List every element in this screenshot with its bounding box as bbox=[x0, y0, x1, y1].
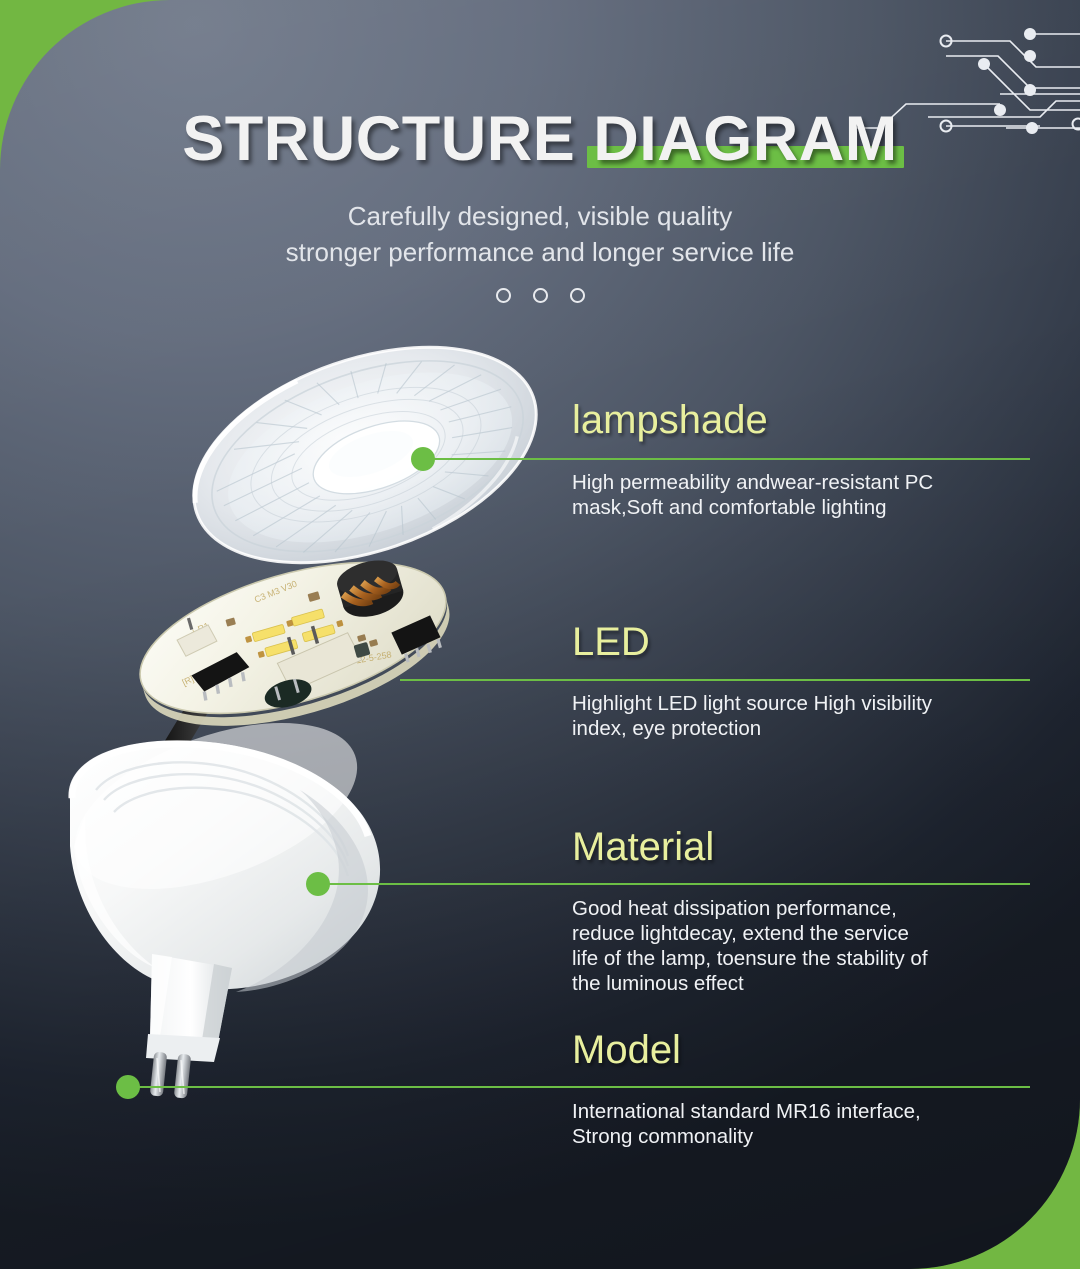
desc-line: Strong commonality bbox=[572, 1124, 921, 1149]
desc-line: reduce lightdecay, extend the service bbox=[572, 921, 928, 946]
led-driver-pcb: + R1 C3 M3 V30 12-5-258 [R] bbox=[123, 533, 466, 756]
desc-line: Good heat dissipation performance, bbox=[572, 896, 928, 921]
callout-model: Model International standard MR16 interf… bbox=[572, 1028, 921, 1149]
callout-material: Material Good heat dissipation performan… bbox=[572, 825, 928, 996]
mr16-lamp-housing bbox=[53, 690, 380, 1062]
callout-desc-model: International standard MR16 interface, S… bbox=[572, 1093, 921, 1149]
desc-line: life of the lamp, toensure the stability… bbox=[572, 946, 928, 971]
callout-desc-lampshade: High permeability andwear-resistant PC m… bbox=[572, 464, 933, 520]
callout-label-lampshade: lampshade bbox=[572, 398, 933, 442]
product-exploded-view: + R1 C3 M3 V30 12-5-258 [R] bbox=[0, 0, 580, 1269]
structure-diagram-poster: STRUCTURE DIAGRAM Carefully designed, vi… bbox=[0, 0, 1080, 1269]
callout-label-model: Model bbox=[572, 1028, 921, 1072]
callout-led: LED Highlight LED light source High visi… bbox=[572, 620, 932, 741]
pc-lens-reflector bbox=[165, 306, 564, 603]
desc-line: mask,Soft and comfortable lighting bbox=[572, 495, 933, 520]
desc-line: index, eye protection bbox=[572, 716, 932, 741]
callout-desc-led: Highlight LED light source High visibili… bbox=[572, 685, 932, 741]
desc-line: High permeability andwear-resistant PC bbox=[572, 470, 933, 495]
callout-lampshade: lampshade High permeability andwear-resi… bbox=[572, 398, 933, 520]
desc-line: Highlight LED light source High visibili… bbox=[572, 691, 932, 716]
desc-line: International standard MR16 interface, bbox=[572, 1099, 921, 1124]
callout-label-material: Material bbox=[572, 825, 928, 869]
desc-line: the luminous effect bbox=[572, 971, 928, 996]
callout-desc-material: Good heat dissipation performance, reduc… bbox=[572, 890, 928, 996]
leader-node-model bbox=[116, 1075, 140, 1099]
title-highlight-text: DIAGRAM bbox=[593, 103, 897, 175]
leader-node-material bbox=[306, 872, 330, 896]
leader-node-lampshade bbox=[411, 447, 435, 471]
callout-label-led: LED bbox=[572, 620, 932, 664]
